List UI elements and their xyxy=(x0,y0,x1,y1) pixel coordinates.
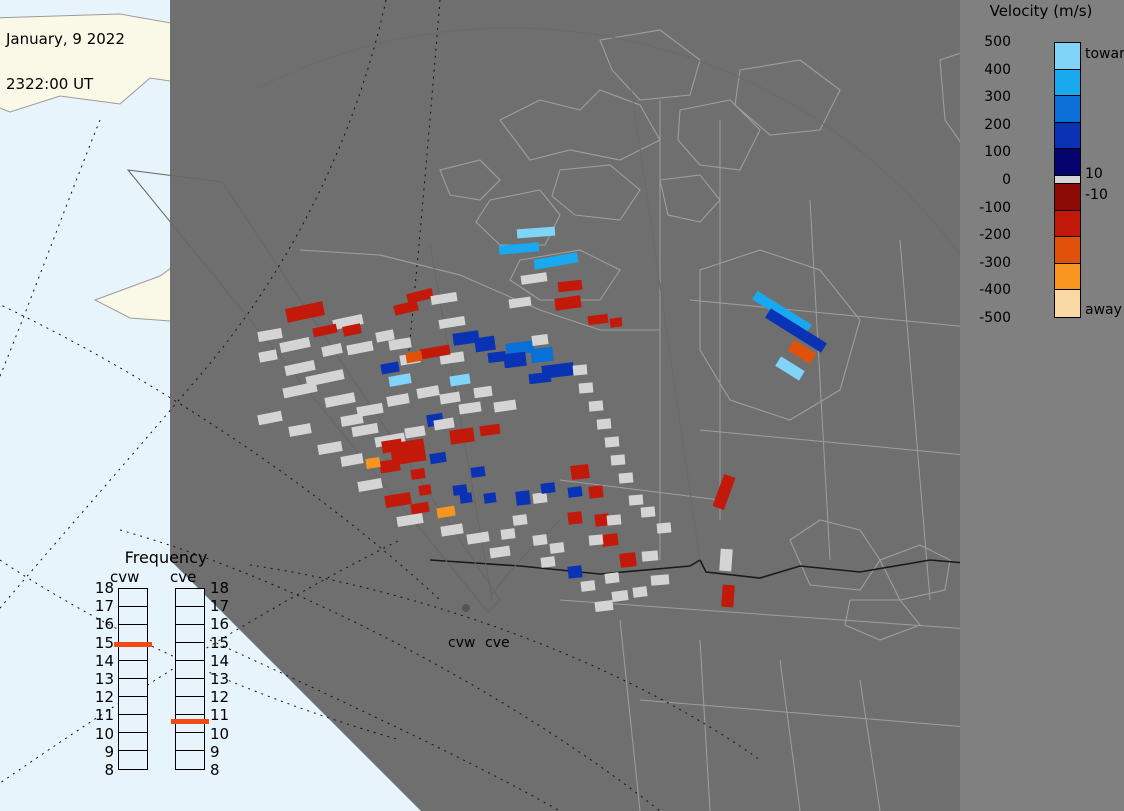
frequency-scale-cell xyxy=(176,589,204,607)
frequency-tick-label: 13 xyxy=(210,670,229,688)
velocity-cell xyxy=(474,336,496,353)
velocity-cell xyxy=(641,506,656,517)
colorbar-segment xyxy=(1055,43,1080,70)
frequency-scale-cell xyxy=(119,715,147,733)
colorbar-segment xyxy=(1055,264,1080,291)
colorbar-away-label: away xyxy=(1085,302,1122,318)
frequency-tick-label: 13 xyxy=(88,670,114,688)
velocity-cell xyxy=(579,382,594,393)
velocity-cell xyxy=(351,423,378,437)
velocity-cell xyxy=(657,522,672,533)
velocity-cell xyxy=(279,337,310,353)
velocity-cell xyxy=(517,226,556,238)
frequency-tick-label: 17 xyxy=(210,597,229,615)
velocity-cell xyxy=(632,586,647,598)
frequency-scale-cvw xyxy=(118,588,148,770)
velocity-cell xyxy=(611,454,626,465)
velocity-cell xyxy=(573,364,588,375)
velocity-cell xyxy=(642,550,659,561)
velocity-cell xyxy=(459,492,472,504)
frequency-marker xyxy=(171,719,209,724)
velocity-cell xyxy=(380,362,399,375)
velocity-cell xyxy=(651,574,670,586)
colorbar-segment xyxy=(1055,149,1080,176)
velocity-cell xyxy=(549,542,564,554)
frequency-tick-label: 12 xyxy=(210,688,229,706)
velocity-cell xyxy=(580,580,595,592)
frequency-scale-cell xyxy=(176,697,204,715)
colorbar-segment xyxy=(1055,176,1080,185)
colorbar-tick-label: 200 xyxy=(984,117,1011,133)
velocity-cell xyxy=(429,452,446,464)
title-time: 2322:00 UT xyxy=(6,77,125,92)
velocity-cell xyxy=(775,356,805,380)
colorbar-negative-threshold-label: -10 xyxy=(1085,187,1108,203)
velocity-cell xyxy=(588,313,609,324)
velocity-cell xyxy=(284,360,315,376)
velocity-cell xyxy=(629,494,644,505)
velocity-cell xyxy=(512,514,527,526)
frequency-column-header-cvw: cvw xyxy=(110,568,139,586)
velocity-map-root: cvw cve January, 9 2022 2322:00 UT Frequ… xyxy=(0,0,1124,811)
colorbar-toward-label: toward xyxy=(1085,46,1124,62)
colorbar-title: Velocity (m/s) xyxy=(961,2,1121,20)
velocity-cell xyxy=(449,427,475,444)
velocity-cell xyxy=(439,391,460,404)
title-block: January, 9 2022 2322:00 UT xyxy=(6,2,125,122)
frequency-scale-cell xyxy=(119,625,147,643)
velocity-cell xyxy=(609,317,622,327)
velocity-cell xyxy=(721,585,735,608)
velocity-cell xyxy=(567,565,582,579)
velocity-cell xyxy=(588,485,603,499)
colorbar-tick-label: 100 xyxy=(984,144,1011,160)
velocity-cell xyxy=(340,453,363,467)
velocity-cell xyxy=(570,464,590,480)
frequency-legend: Frequency cvw cve 1817161514131211109818… xyxy=(86,548,246,794)
frequency-tick-label: 10 xyxy=(88,725,114,743)
frequency-tick-label: 11 xyxy=(88,706,114,724)
colorbar-tick-label: -100 xyxy=(979,200,1011,216)
frequency-scale-cve xyxy=(175,588,205,770)
frequency-scale-cell xyxy=(119,733,147,751)
velocity-cell xyxy=(384,492,412,508)
frequency-marker xyxy=(114,642,152,647)
velocity-cell xyxy=(257,411,282,425)
frequency-tick-label: 14 xyxy=(210,652,229,670)
velocity-cell xyxy=(604,572,619,584)
colorbar-segment xyxy=(1055,123,1080,150)
frequency-scale-cell xyxy=(176,715,204,733)
velocity-cell xyxy=(713,474,736,510)
velocity-cell xyxy=(393,300,419,316)
velocity-cell xyxy=(404,425,425,438)
velocity-cell xyxy=(433,417,454,430)
velocity-cell xyxy=(396,513,423,527)
velocity-cell xyxy=(410,468,425,480)
velocity-cell xyxy=(607,514,622,525)
frequency-tick-label: 11 xyxy=(210,706,229,724)
colorbar-tick-label: 500 xyxy=(984,34,1011,50)
colorbar-positive-threshold-label: 10 xyxy=(1085,166,1103,182)
velocity-cell xyxy=(458,402,481,415)
velocity-cell xyxy=(466,531,489,544)
velocity-cell xyxy=(558,280,583,292)
frequency-scale-cell xyxy=(176,607,204,625)
velocity-cell xyxy=(521,272,548,285)
velocity-cell xyxy=(540,482,555,494)
frequency-tick-label: 12 xyxy=(88,688,114,706)
velocity-cell xyxy=(449,373,470,386)
velocity-cell xyxy=(619,552,637,568)
velocity-cell xyxy=(605,436,620,447)
velocity-cell xyxy=(438,316,465,329)
colorbar-segment xyxy=(1055,290,1080,317)
velocity-cell xyxy=(312,323,337,337)
velocity-cell xyxy=(483,492,496,504)
frequency-scale-cell xyxy=(119,607,147,625)
frequency-tick-label: 17 xyxy=(88,597,114,615)
frequency-tick-label: 9 xyxy=(210,743,220,761)
frequency-scale-cell xyxy=(176,661,204,679)
frequency-scale-cell xyxy=(176,733,204,751)
velocity-cell xyxy=(388,373,411,387)
velocity-cell xyxy=(554,295,581,311)
velocity-cell xyxy=(430,292,457,305)
colorbar-segment xyxy=(1055,184,1080,211)
velocity-cell xyxy=(611,590,628,602)
colorbar-tick-label: 0 xyxy=(1002,172,1011,188)
velocity-cell xyxy=(489,546,510,559)
velocity-cell xyxy=(285,301,325,323)
velocity-cell xyxy=(288,423,311,437)
frequency-tick-label: 8 xyxy=(88,761,114,779)
frequency-tick-label: 9 xyxy=(88,743,114,761)
frequency-tick-label: 16 xyxy=(210,615,229,633)
velocity-colorbar xyxy=(1054,42,1081,318)
velocity-cell xyxy=(589,400,604,411)
velocity-cell xyxy=(594,600,613,612)
velocity-cell xyxy=(532,492,547,504)
colorbar-tick-label: 300 xyxy=(984,89,1011,105)
colorbar-tick-label: 400 xyxy=(984,62,1011,78)
velocity-cell xyxy=(500,528,515,540)
velocity-cell xyxy=(365,457,380,469)
colorbar-segment xyxy=(1055,96,1080,123)
colorbar-segment xyxy=(1055,237,1080,264)
velocity-cell xyxy=(533,252,578,269)
frequency-scale-cell xyxy=(176,751,204,769)
frequency-tick-label: 18 xyxy=(210,579,229,597)
velocity-cell xyxy=(531,334,548,346)
velocity-cell xyxy=(719,549,733,572)
velocity-cell xyxy=(386,393,409,407)
frequency-scale-cell xyxy=(176,643,204,661)
velocity-cell xyxy=(515,490,531,506)
frequency-scale-cell xyxy=(119,661,147,679)
velocity-cell xyxy=(532,534,547,546)
velocity-cell xyxy=(342,323,362,337)
velocity-cell xyxy=(357,478,382,492)
frequency-scale-cell xyxy=(119,751,147,769)
radar-site-marker xyxy=(462,604,470,612)
velocity-cell xyxy=(540,556,555,568)
velocity-cell xyxy=(282,382,317,399)
frequency-tick-label: 8 xyxy=(210,761,220,779)
velocity-cell xyxy=(601,533,618,547)
velocity-cell xyxy=(530,347,554,364)
velocity-cell xyxy=(470,466,485,478)
velocity-cell xyxy=(528,372,551,385)
frequency-scale-cell xyxy=(119,589,147,607)
velocity-cell xyxy=(567,486,582,498)
velocity-cell xyxy=(416,385,439,399)
site-label-cve: cve xyxy=(485,635,510,651)
velocity-cell xyxy=(258,349,278,362)
frequency-tick-label: 14 xyxy=(88,652,114,670)
velocity-cell xyxy=(473,386,492,398)
frequency-tick-label: 10 xyxy=(210,725,229,743)
frequency-column-header-cve: cve xyxy=(170,568,196,586)
frequency-tick-label: 15 xyxy=(88,634,114,652)
velocity-cell xyxy=(379,459,401,474)
velocity-cell xyxy=(619,472,634,483)
velocity-cell xyxy=(508,296,531,308)
frequency-tick-label: 15 xyxy=(210,634,229,652)
frequency-scale-cell xyxy=(176,679,204,697)
velocity-cell xyxy=(317,441,342,455)
velocity-cell xyxy=(321,343,343,357)
frequency-tick-label: 16 xyxy=(88,615,114,633)
velocity-cell xyxy=(503,352,527,369)
frequency-legend-title: Frequency xyxy=(86,548,246,567)
title-date: January, 9 2022 xyxy=(6,32,125,47)
colorbar-tick-label: -400 xyxy=(979,282,1011,298)
colorbar-segment xyxy=(1055,70,1080,97)
frequency-scale-cell xyxy=(119,679,147,697)
frequency-scale-cell xyxy=(176,625,204,643)
velocity-cell xyxy=(479,424,500,437)
velocity-cell xyxy=(597,418,612,429)
colorbar-tick-label: -200 xyxy=(979,227,1011,243)
velocity-cell xyxy=(499,242,540,254)
colorbar-tick-label: -500 xyxy=(979,310,1011,326)
velocity-cell xyxy=(440,523,463,536)
velocity-cell xyxy=(418,484,431,496)
velocity-cell xyxy=(257,328,282,342)
velocity-cell xyxy=(589,534,604,545)
frequency-tick-label: 18 xyxy=(88,579,114,597)
velocity-cell xyxy=(346,341,373,356)
velocity-cell xyxy=(493,400,516,413)
velocity-colorbar-panel: Velocity (m/s) 5004003002001000-100-200-… xyxy=(960,0,1124,811)
frequency-scale-cell xyxy=(119,697,147,715)
site-label-cvw: cvw xyxy=(448,635,475,651)
colorbar-segment xyxy=(1055,211,1080,238)
velocity-cell xyxy=(567,511,582,525)
colorbar-tick-label: -300 xyxy=(979,255,1011,271)
velocity-cell xyxy=(324,392,355,408)
velocity-cell xyxy=(436,506,455,519)
